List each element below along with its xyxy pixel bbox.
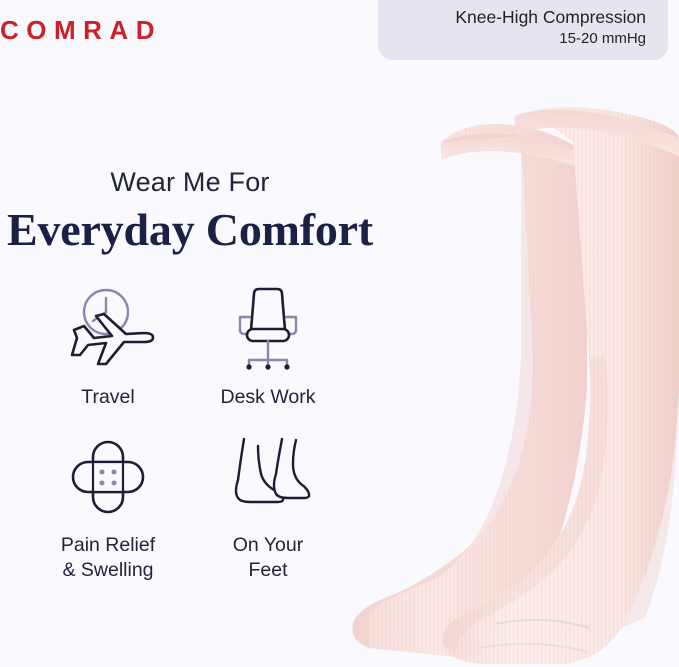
badge-title: Knee-High Compression	[378, 6, 646, 28]
product-marketing-image: COMRAD Knee-High Compression 15-20 mmHg …	[0, 0, 679, 667]
compression-badge: Knee-High Compression 15-20 mmHg	[378, 0, 668, 60]
benefit-label-on-your-feet: On Your Feet	[233, 533, 303, 582]
benefit-label-pain-relief: Pain Relief & Swelling	[61, 533, 155, 582]
badge-subtitle: 15-20 mmHg	[378, 29, 646, 49]
headline-eyebrow: Wear Me For	[0, 168, 380, 198]
benefit-item-desk-work: Desk Work	[188, 283, 348, 409]
product-photo-socks	[345, 58, 679, 667]
office-chair-icon	[218, 283, 318, 375]
benefit-item-travel: Travel	[28, 283, 188, 409]
benefit-label-travel: Travel	[81, 385, 134, 409]
benefit-label-desk-work: Desk Work	[221, 385, 316, 409]
benefit-item-pain-relief: Pain Relief & Swelling	[28, 431, 188, 582]
feet-icon	[218, 431, 318, 523]
airplane-clock-icon	[58, 283, 158, 375]
bandage-cross-icon	[58, 431, 158, 523]
headline-main: Everyday Comfort	[0, 204, 380, 256]
benefits-grid: Travel	[28, 283, 348, 582]
brand-logo: COMRAD	[0, 15, 180, 45]
headline-block: Wear Me For Everyday Comfort	[0, 168, 380, 255]
benefit-item-on-your-feet: On Your Feet	[188, 431, 348, 582]
